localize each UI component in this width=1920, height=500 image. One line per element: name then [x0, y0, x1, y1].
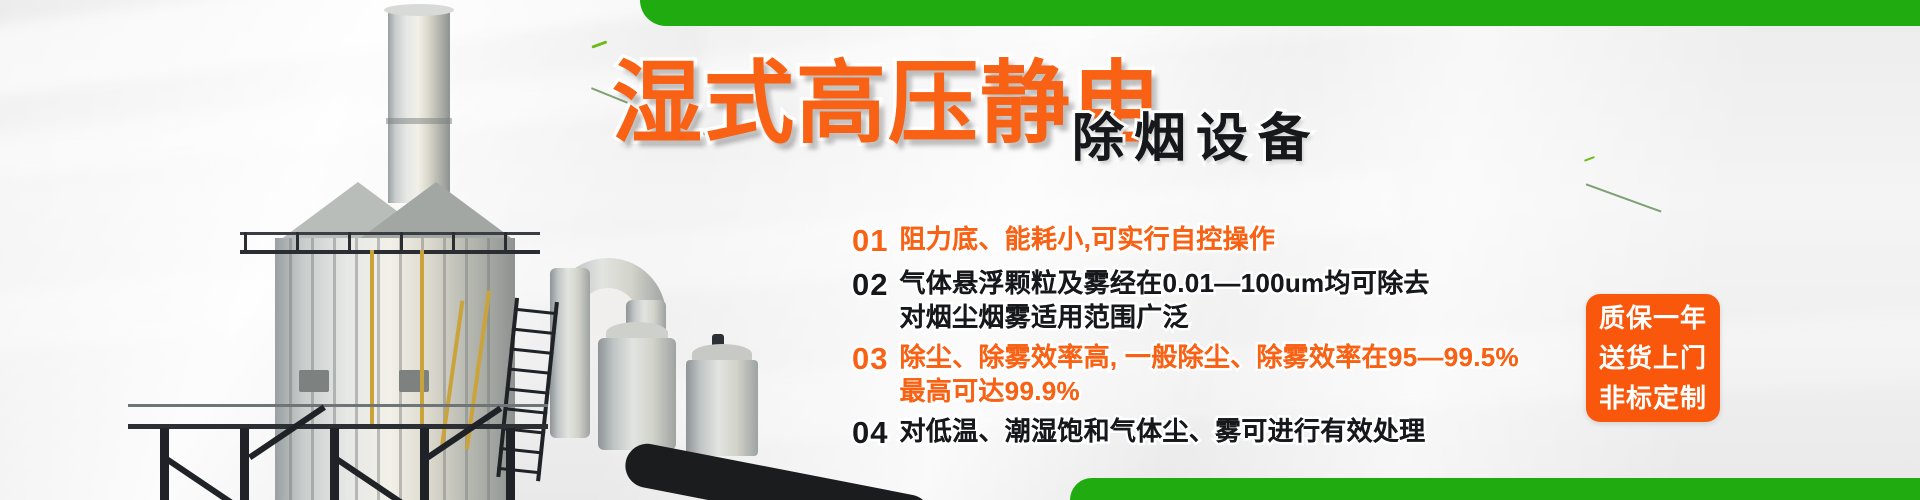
green-bar-top — [640, 0, 1920, 26]
green-bar-bottom — [1070, 478, 1920, 500]
feature-list: 01 阻力底、能耗小,可实行自控操作 阻力底、能耗小,可实行自控操作 02 气体… — [852, 222, 1592, 458]
feature-number: 03 — [852, 340, 888, 378]
duct-leg — [550, 268, 590, 438]
feature-text-fill: 阻力底、能耗小,可实行自控操作 — [899, 222, 1275, 256]
feature-number: 02 — [852, 266, 888, 304]
subheadline-text-fill: 除烟设备 — [1072, 108, 1320, 170]
badge-line: 送货上门 — [1599, 338, 1707, 378]
feature-text-fill: 气体悬浮颗粒及雾经在0.01—100um均可除去 对烟尘烟雾适用范围广泛 — [899, 266, 1429, 334]
feature-item: 03 除尘、除雾效率高, 一般除尘、除雾效率在95—99.5% 最高可达99.9… — [852, 340, 1592, 408]
scrubber-vessel — [686, 360, 758, 456]
feature-item: 01 阻力底、能耗小,可实行自控操作 阻力底、能耗小,可实行自控操作 — [852, 222, 1592, 260]
scrubber-vessel — [598, 338, 676, 450]
guarantee-badge[interactable]: 质保一年 送货上门 非标定制 — [1586, 294, 1720, 422]
platform-rail — [240, 232, 540, 235]
feature-number: 01 — [852, 222, 888, 260]
badge-line: 非标定制 — [1599, 378, 1707, 418]
platform-deck — [240, 250, 540, 254]
leaf-stem — [1584, 156, 1595, 162]
deck-rail — [128, 404, 548, 407]
badge-line: 质保一年 — [1599, 298, 1707, 338]
feature-number: 04 — [852, 414, 888, 452]
feature-text-fill: 除尘、除雾效率高, 一般除尘、除雾效率在95—99.5% 最高可达99.9% — [899, 340, 1519, 408]
feature-item: 04 对低温、潮湿饱和气体尘、雾可进行有效处理 对低温、潮湿饱和气体尘、雾可进行… — [852, 414, 1592, 452]
subheadline-group: 除烟设备 除烟设备 — [1072, 108, 1320, 170]
stack-band — [386, 118, 452, 124]
stack-cap — [384, 4, 454, 16]
leaf-vein — [1585, 183, 1662, 212]
feature-text-fill: 对低温、潮湿饱和气体尘、雾可进行有效处理 — [899, 414, 1425, 448]
promo-banner: 湿式高压静电 湿式高压静电 除烟设备 除烟设备 01 阻力底、能耗小,可实行自控… — [0, 0, 1920, 500]
smoke-stack — [388, 8, 450, 203]
feature-item: 02 气体悬浮颗粒及雾经在0.01—100um均可除去 对烟尘烟雾适用范围广泛 … — [852, 266, 1592, 334]
